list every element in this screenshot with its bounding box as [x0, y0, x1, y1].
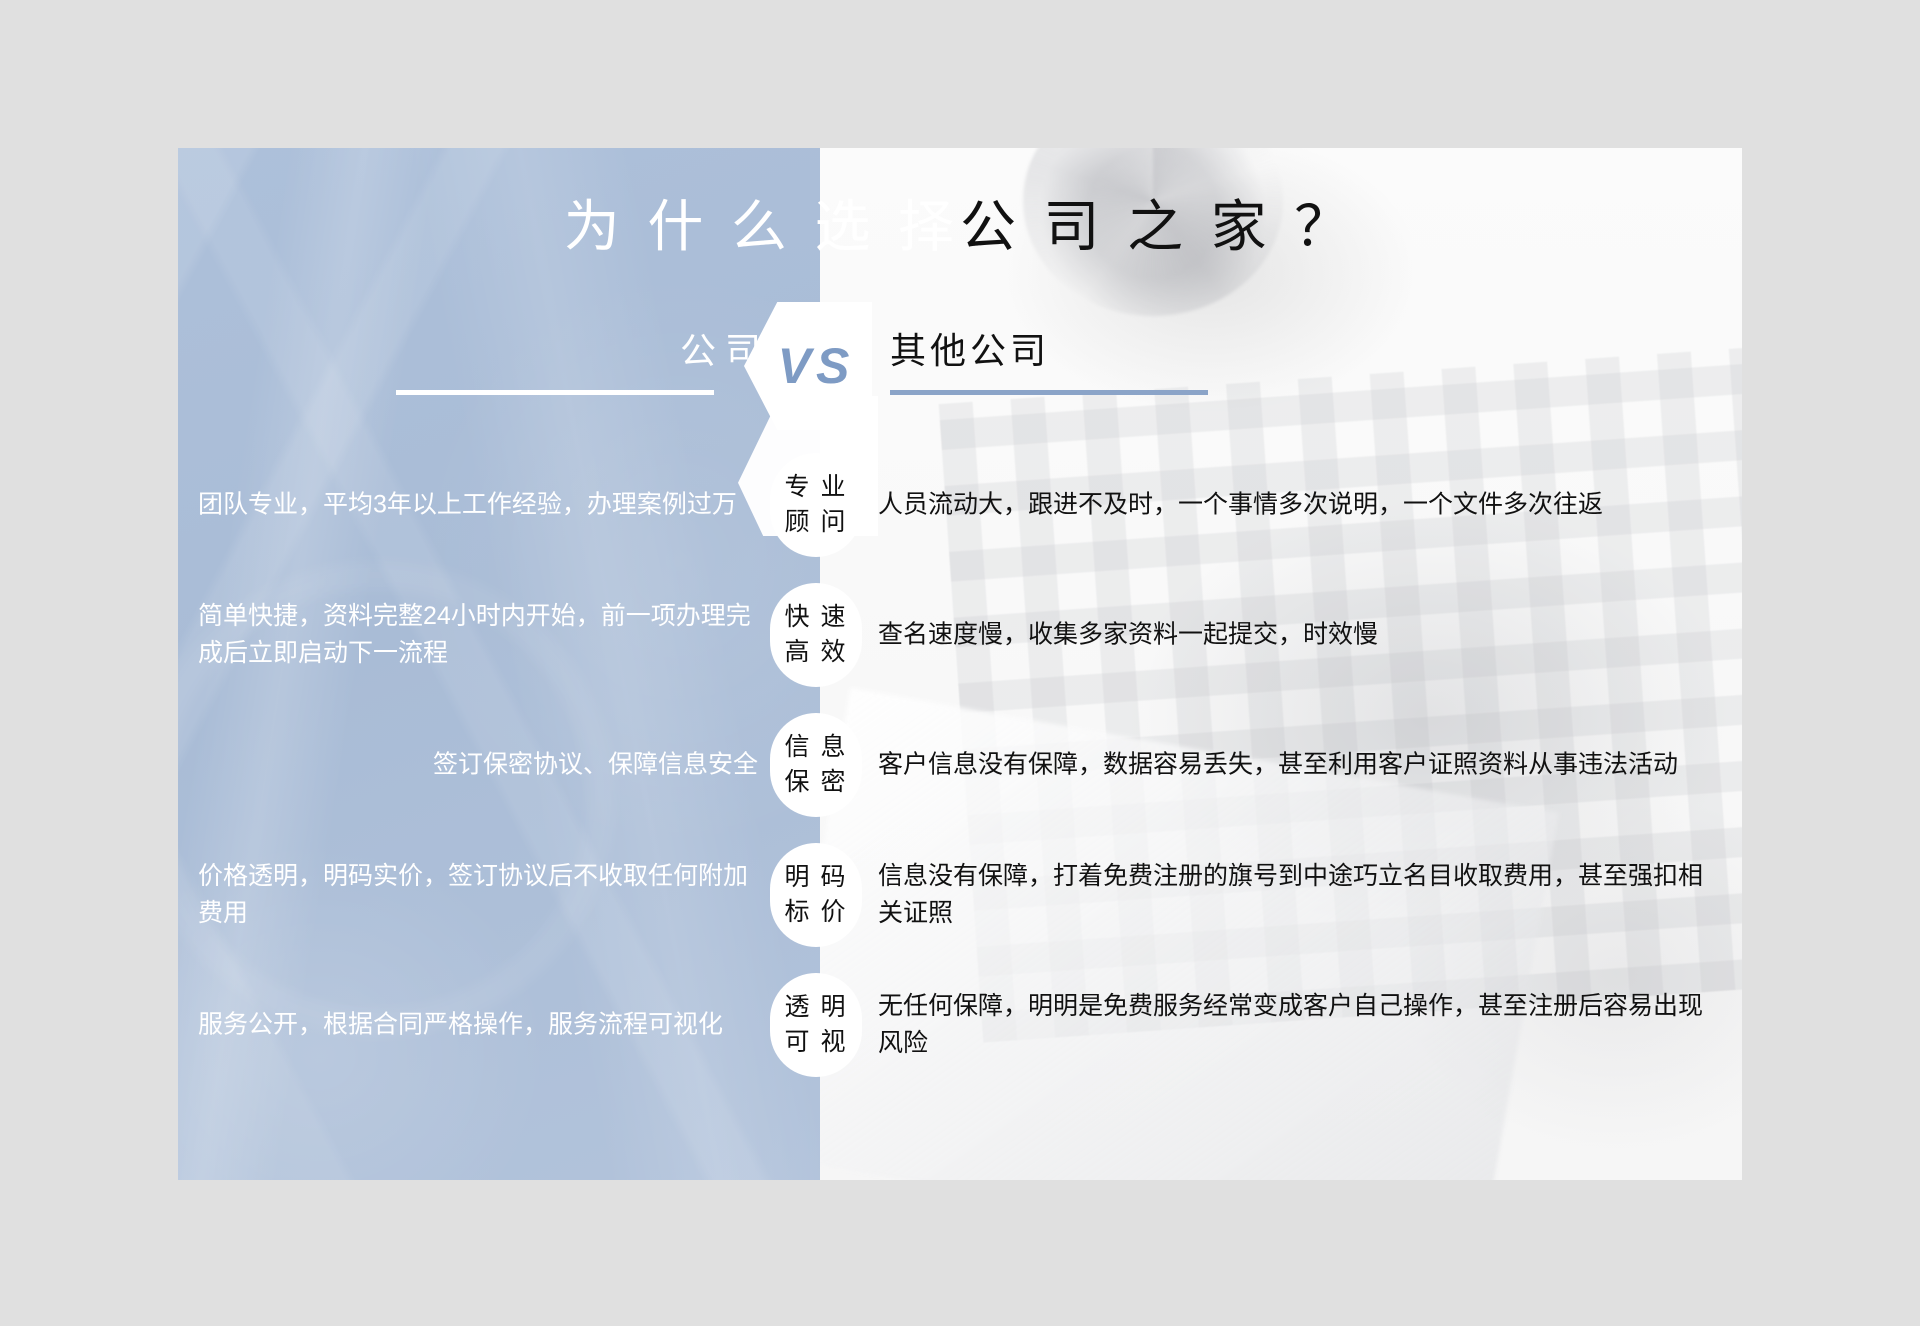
- comparison-rows: 团队专业，平均3年以上工作经验，办理案例过万专 业顾 问人员流动大，跟进不及时，…: [178, 440, 1742, 1180]
- row-category-line1: 透 明: [785, 990, 848, 1026]
- right-heading-underline: [890, 390, 1208, 395]
- page-title-dark-part: 公 司 之 家 ？: [960, 195, 1356, 258]
- row-right-text: 查名速度慢，收集多家资料一起提交，时效慢: [878, 617, 1716, 654]
- row-category-line1: 信 息: [785, 730, 848, 766]
- vs-label: VS: [778, 337, 855, 395]
- right-column-heading: 其他公司: [890, 322, 1050, 374]
- row-category-line2: 顾 问: [785, 505, 848, 541]
- slide-canvas: 为 什 么 选 择公 司 之 家 ？ 公司之家 VS 其他公司 团队专业，平均3…: [178, 148, 1742, 1180]
- comparison-row: 价格透明，明码实价，签订协议后不收取任何附加费用明 码标 价信息没有保障，打着免…: [178, 830, 1742, 960]
- comparison-row: 团队专业，平均3年以上工作经验，办理案例过万专 业顾 问人员流动大，跟进不及时，…: [178, 440, 1742, 570]
- row-category-pill: 透 明可 视: [770, 973, 862, 1077]
- row-category-line1: 快 速: [785, 600, 848, 636]
- row-left-text: 团队专业，平均3年以上工作经验，办理案例过万: [198, 487, 758, 524]
- row-left-text: 简单快捷，资料完整24小时内开始，前一项办理完成后立即启动下一流程: [198, 598, 758, 672]
- row-right-text: 信息没有保障，打着免费注册的旗号到中途巧立名目收取费用，甚至强扣相关证照: [878, 858, 1716, 932]
- row-category-line1: 明 码: [785, 860, 848, 896]
- row-right-text: 无任何保障，明明是免费服务经常变成客户自己操作，甚至注册后容易出现风险: [878, 988, 1716, 1062]
- row-right-text: 人员流动大，跟进不及时，一个事情多次说明，一个文件多次往返: [878, 487, 1716, 524]
- row-left-text: 签订保密协议、保障信息安全: [198, 747, 758, 784]
- row-category-pill: 快 速高 效: [770, 583, 862, 687]
- row-left-text: 价格透明，明码实价，签订协议后不收取任何附加费用: [198, 858, 758, 932]
- row-left-text: 服务公开，根据合同严格操作，服务流程可视化: [198, 1007, 758, 1044]
- row-category-line2: 保 密: [785, 765, 848, 801]
- row-category-line2: 高 效: [785, 635, 848, 671]
- row-right-text: 客户信息没有保障，数据容易丢失，甚至利用客户证照资料从事违法活动: [878, 747, 1716, 784]
- row-category-pill: 信 息保 密: [770, 713, 862, 817]
- comparison-row: 简单快捷，资料完整24小时内开始，前一项办理完成后立即启动下一流程快 速高 效查…: [178, 570, 1742, 700]
- row-category-pill: 明 码标 价: [770, 843, 862, 947]
- left-heading-underline: [396, 390, 714, 395]
- comparison-row: 服务公开，根据合同严格操作，服务流程可视化透 明可 视无任何保障，明明是免费服务…: [178, 960, 1742, 1090]
- comparison-row: 签订保密协议、保障信息安全信 息保 密客户信息没有保障，数据容易丢失，甚至利用客…: [178, 700, 1742, 830]
- comparison-header: 公司之家 VS 其他公司: [178, 316, 1742, 412]
- row-category-pill: 专 业顾 问: [770, 453, 862, 557]
- page-title: 为 什 么 选 择公 司 之 家 ？: [178, 194, 1742, 260]
- row-category-line1: 专 业: [785, 470, 848, 506]
- page-title-white-part: 为 什 么 选 择: [564, 195, 960, 258]
- row-category-line2: 可 视: [785, 1025, 848, 1061]
- row-category-line2: 标 价: [785, 895, 848, 931]
